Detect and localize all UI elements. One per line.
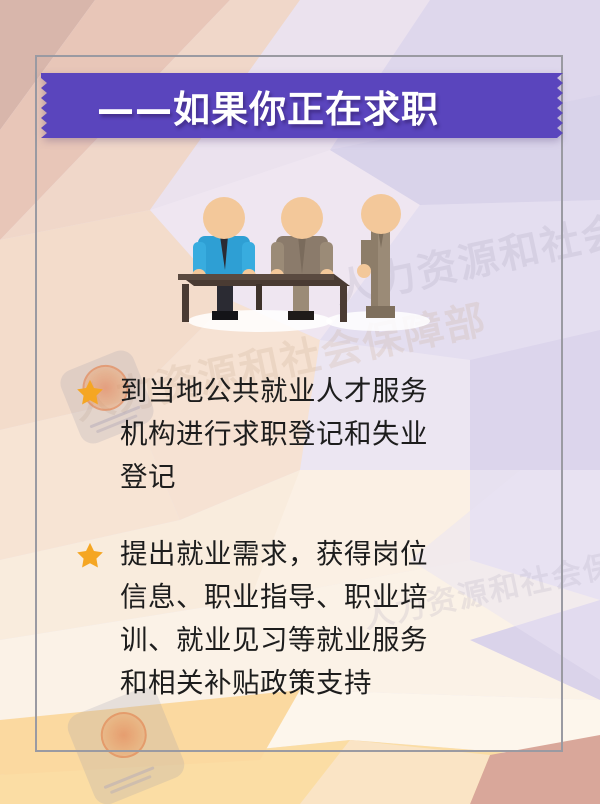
- bullet-list: 到当地公共就业人才服务 机构进行求职登记和失业 登记 提出就业需求，获得岗位 信…: [76, 370, 496, 739]
- interview-scene-svg: [160, 178, 450, 343]
- figure-interviewer-blue: [192, 197, 256, 320]
- list-item-text: 到当地公共就业人才服务 机构进行求职登记和失业 登记: [120, 370, 428, 499]
- illustration-job-interview: [160, 178, 450, 343]
- banner-ribbon: ——如果你正在求职: [41, 73, 569, 138]
- poster-root: 人力资源和社会保障部 人力资源和社会保障部 人力资源和社会保障部 ——如果你正在…: [0, 0, 600, 804]
- list-item: 提出就业需求，获得岗位 信息、职业指导、职业培 训、就业见习等就业服务 和相关补…: [76, 533, 496, 705]
- list-item-text: 提出就业需求，获得岗位 信息、职业指导、职业培 训、就业见习等就业服务 和相关补…: [120, 533, 428, 705]
- star-icon: [76, 378, 104, 406]
- figure-interviewer-brown: [270, 197, 334, 320]
- figure-job-seeker: [357, 194, 401, 318]
- banner-title: ——如果你正在求职: [41, 73, 569, 138]
- list-item: 到当地公共就业人才服务 机构进行求职登记和失业 登记: [76, 370, 496, 499]
- star-icon: [76, 541, 104, 569]
